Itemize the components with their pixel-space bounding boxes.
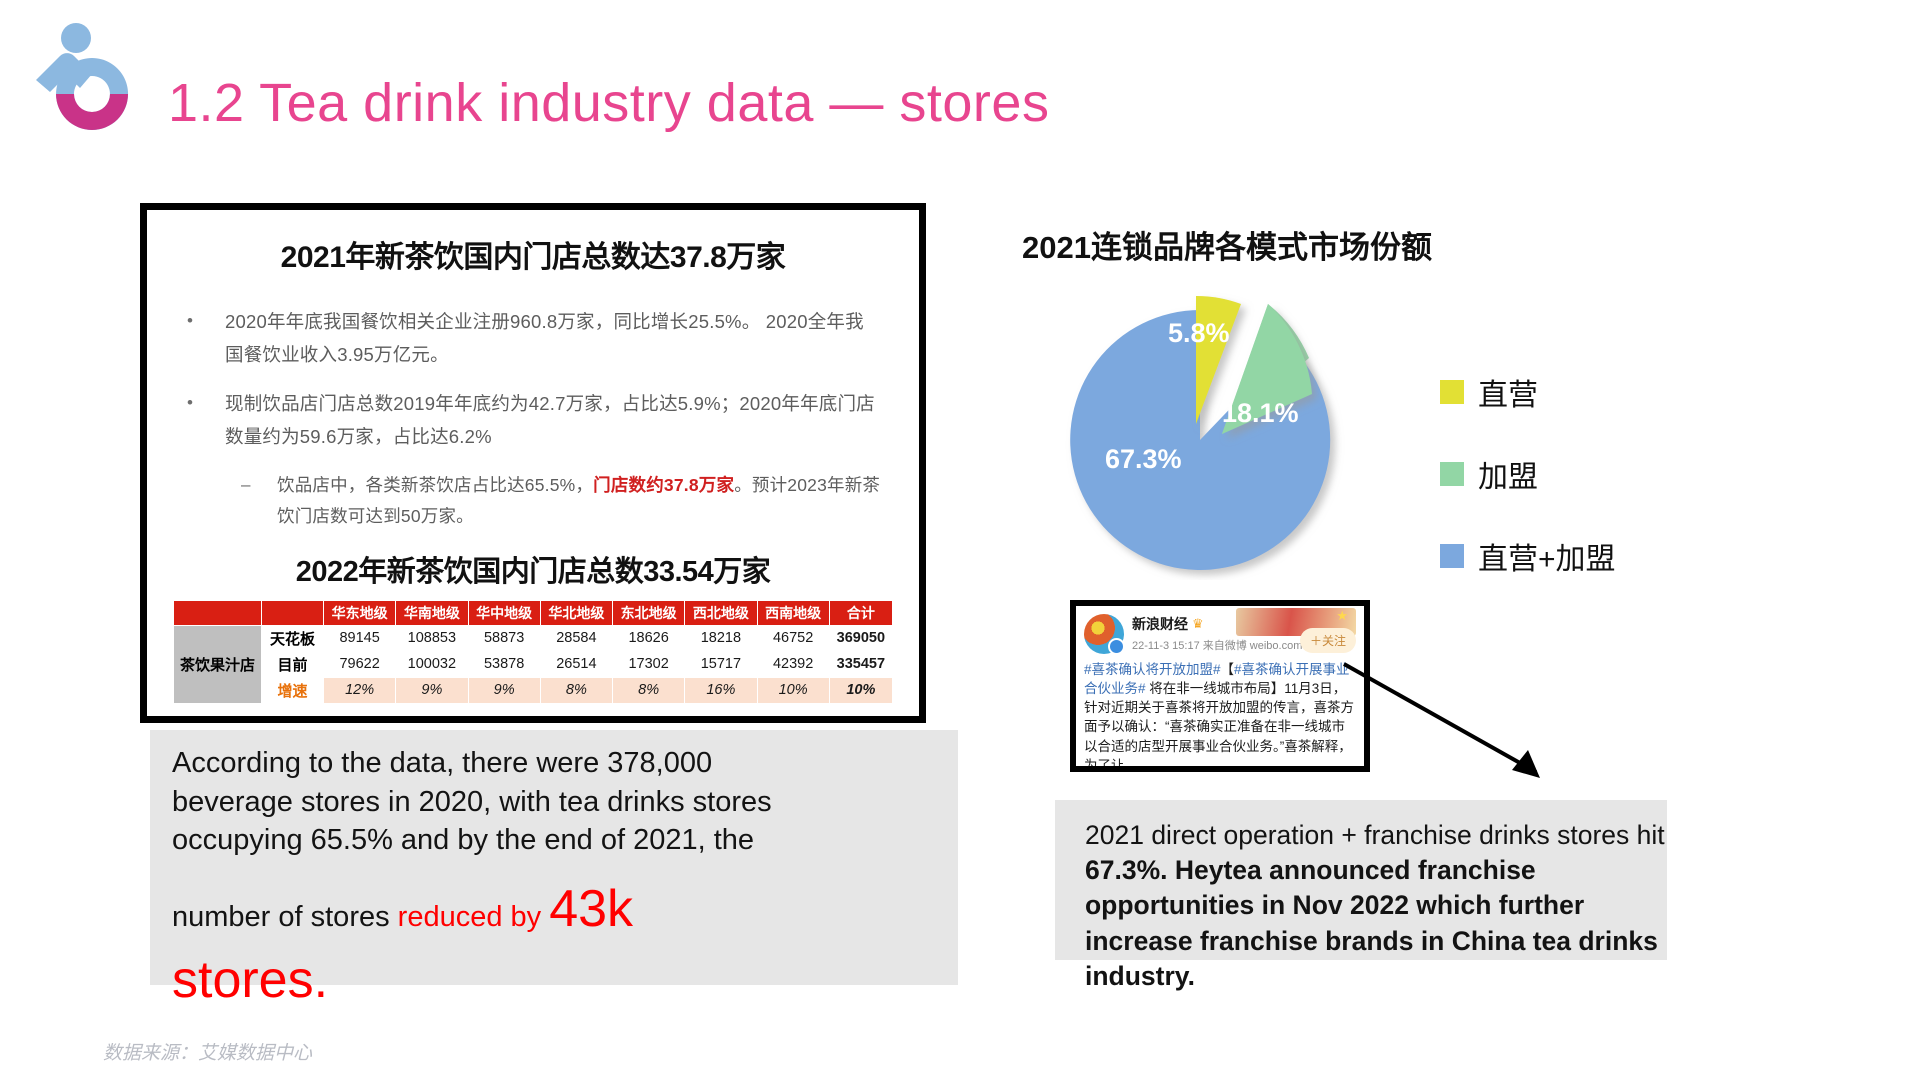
avatar (1084, 614, 1124, 654)
arrow-icon (1340, 660, 1570, 800)
bullet-item: • 2020年年底我国餐饮相关企业注册960.8万家，同比增长25.5%。 20… (181, 306, 881, 372)
cell-value: 8% (613, 677, 685, 703)
legend-swatch-blue (1440, 544, 1464, 568)
pie-chart: 5.8% 18.1% 67.3% (1050, 280, 1380, 580)
legend-label: 直营+加盟 (1478, 534, 1616, 578)
bullet-text: 现制饮品店门店总数2019年年底约为42.7万家，占比达5.9%；2020年年底… (225, 388, 881, 454)
col-header-1 (262, 600, 324, 625)
weibo-text-1: 【 (1221, 662, 1235, 677)
cell-value: 53878 (468, 651, 540, 677)
pie-chart-title: 2021连锁品牌各模式市场份额 (1022, 222, 1432, 267)
cell-value: 16% (685, 677, 757, 703)
weibo-inner: 新浪财经 ♛ 22-11-3 15:17 来自微博 weibo.com ＋关注 … (1076, 606, 1364, 766)
cell-value: 12% (324, 677, 396, 703)
note-line-4: number of stores reduced by 43k (172, 886, 938, 937)
sub-bullet-text-before: 饮品店中，各类新茶饮店占比达65.5%， (277, 475, 593, 495)
col-header-total: 合计 (829, 600, 892, 625)
sub-bullet-item: – 饮品店中，各类新茶饮店占比达65.5%，门店数约37.8万家。预计2023年… (235, 470, 881, 532)
col-header-huanan: 华南地级 (396, 600, 468, 625)
col-header-huazhong: 华中地级 (468, 600, 540, 625)
note-line-3: occupying 65.5% and by the end of 2021, … (172, 821, 938, 860)
note-reduced-by: reduced by (398, 901, 550, 933)
left-info-card: 2021年新茶饮国内门店总数达37.8万家 • 2020年年底我国餐饮相关企业注… (140, 203, 926, 723)
weibo-account-name: 新浪财经 (1132, 614, 1188, 634)
cell-value: 26514 (540, 651, 612, 677)
legend-item-direct-plus-franchise[interactable]: 直营+加盟 (1440, 534, 1616, 578)
pie-label-franchise: 18.1% (1222, 398, 1299, 428)
left-summary-note: According to the data, there were 378,00… (150, 730, 958, 985)
sub-bullet-highlight: 门店数约37.8万家 (593, 475, 734, 495)
cell-value: 42392 (757, 651, 829, 677)
cell-value: 100032 (396, 651, 468, 677)
pie-label-direct-plus-franchise: 67.3% (1105, 444, 1182, 474)
col-header-huabei: 华北地级 (540, 600, 612, 625)
cell-value: 58873 (468, 625, 540, 651)
pie-label-direct: 5.8% (1168, 318, 1230, 348)
cell-value: 89145 (324, 625, 396, 651)
table-row: 增速 12% 9% 9% 8% 8% 16% 10% 10% (174, 677, 893, 703)
row-label-ceiling: 天花板 (262, 625, 324, 651)
legend-swatch-green (1440, 462, 1464, 486)
cell-value: 8% (540, 677, 612, 703)
legend-item-direct[interactable]: 直营 (1440, 370, 1616, 414)
page-title: 1.2 Tea drink industry data — stores (168, 72, 1049, 134)
row-label-current: 目前 (262, 651, 324, 677)
col-header-huadong: 华东地级 (324, 600, 396, 625)
logo-icon (22, 18, 132, 138)
row-group-label: 茶饮果汁店 (174, 625, 262, 703)
cell-value: 9% (468, 677, 540, 703)
note-prefix: number of stores (172, 901, 398, 933)
table-body: 茶饮果汁店 天花板 89145 108853 58873 28584 18626… (174, 625, 893, 703)
note-line-2: beverage stores in 2020, with tea drinks… (172, 783, 938, 822)
cell-value: 18218 (685, 625, 757, 651)
table-row: 目前 79622 100032 53878 26514 17302 15717 … (174, 651, 893, 677)
col-header-xibei: 西北地级 (685, 600, 757, 625)
legend-swatch-yellow (1440, 380, 1464, 404)
legend-item-franchise[interactable]: 加盟 (1440, 452, 1616, 496)
cell-value: 9% (396, 677, 468, 703)
cell-value: 28584 (540, 625, 612, 651)
weibo-follow-button[interactable]: ＋关注 (1300, 628, 1356, 653)
right-note-plain: 2021 direct operation + franchise drinks… (1085, 820, 1665, 850)
cell-value: 15717 (685, 651, 757, 677)
cell-total: 369050 (829, 625, 892, 651)
weibo-post-body: #喜茶确认将开放加盟#【#喜茶确认开展事业合伙业务# 将在非一线城市布局】11月… (1084, 660, 1356, 772)
pie-chart-svg: 5.8% 18.1% 67.3% (1050, 280, 1380, 580)
store-data-table: 华东地级 华南地级 华中地级 华北地级 东北地级 西北地级 西南地级 合计 茶饮… (173, 600, 893, 704)
crown-badge-icon: ♛ (1192, 616, 1204, 632)
cell-total: 10% (829, 677, 892, 703)
col-header-0 (174, 600, 262, 625)
card-heading-2022: 2022年新茶饮国内门店总数33.54万家 (147, 548, 919, 590)
weibo-meta: 22-11-3 15:17 来自微博 weibo.com (1132, 637, 1302, 653)
col-header-dongbei: 东北地级 (613, 600, 685, 625)
store-table-wrapper: 华东地级 华南地级 华中地级 华北地级 东北地级 西北地级 西南地级 合计 茶饮… (147, 590, 919, 704)
cell-total: 335457 (829, 651, 892, 677)
legend-label: 加盟 (1478, 452, 1538, 496)
weibo-source: 来自微博 weibo.com (1203, 640, 1303, 652)
table-head: 华东地级 华南地级 华中地级 华北地级 东北地级 西北地级 西南地级 合计 (174, 600, 893, 625)
note-stores-word: stores. (172, 952, 938, 1009)
cell-value: 17302 (613, 651, 685, 677)
col-header-xinan: 西南地级 (757, 600, 829, 625)
weibo-timestamp: 22-11-3 15:17 (1132, 640, 1200, 652)
bullet-item: • 现制饮品店门店总数2019年年底约为42.7万家，占比达5.9%；2020年… (181, 388, 881, 454)
legend-label: 直营 (1478, 370, 1538, 414)
source-footnote: 数据来源：艾媒数据中心 (103, 1038, 312, 1065)
row-label-growth: 增速 (262, 677, 324, 703)
right-note-bold: 67.3%. Heytea announced franchise opport… (1085, 855, 1658, 991)
bullet-text: 2020年年底我国餐饮相关企业注册960.8万家，同比增长25.5%。 2020… (225, 306, 881, 372)
weibo-screenshot: 新浪财经 ♛ 22-11-3 15:17 来自微博 weibo.com ＋关注 … (1070, 600, 1370, 772)
pie-legend: 直营 加盟 直营+加盟 (1440, 370, 1616, 616)
table-row: 茶饮果汁店 天花板 89145 108853 58873 28584 18626… (174, 625, 893, 651)
right-summary-note: 2021 direct operation + franchise drinks… (1085, 818, 1665, 994)
table-header-row: 华东地级 华南地级 华中地级 华北地级 东北地级 西北地级 西南地级 合计 (174, 600, 893, 625)
cell-value: 79622 (324, 651, 396, 677)
company-logo (22, 18, 132, 138)
cell-value: 46752 (757, 625, 829, 651)
note-line-1: According to the data, there were 378,00… (172, 744, 938, 783)
cell-value: 10% (757, 677, 829, 703)
sub-bullet-text: 饮品店中，各类新茶饮店占比达65.5%，门店数约37.8万家。预计2023年新茶… (277, 470, 881, 532)
pointer-arrow (1340, 660, 1570, 805)
card-heading-2021: 2021年新茶饮国内门店总数达37.8万家 (147, 232, 919, 276)
bullet-marker: • (181, 388, 225, 418)
slide-root: 1.2 Tea drink industry data — stores 202… (0, 0, 1917, 1080)
bullet-marker: • (181, 306, 225, 336)
weibo-hashtag-1[interactable]: #喜茶确认将开放加盟# (1084, 662, 1221, 677)
bullet-list: • 2020年年底我国餐饮相关企业注册960.8万家，同比增长25.5%。 20… (147, 306, 919, 532)
sub-bullet-marker: – (235, 470, 277, 500)
cell-value: 108853 (396, 625, 468, 651)
note-big-number: 43k (549, 880, 633, 938)
cell-value: 18626 (613, 625, 685, 651)
